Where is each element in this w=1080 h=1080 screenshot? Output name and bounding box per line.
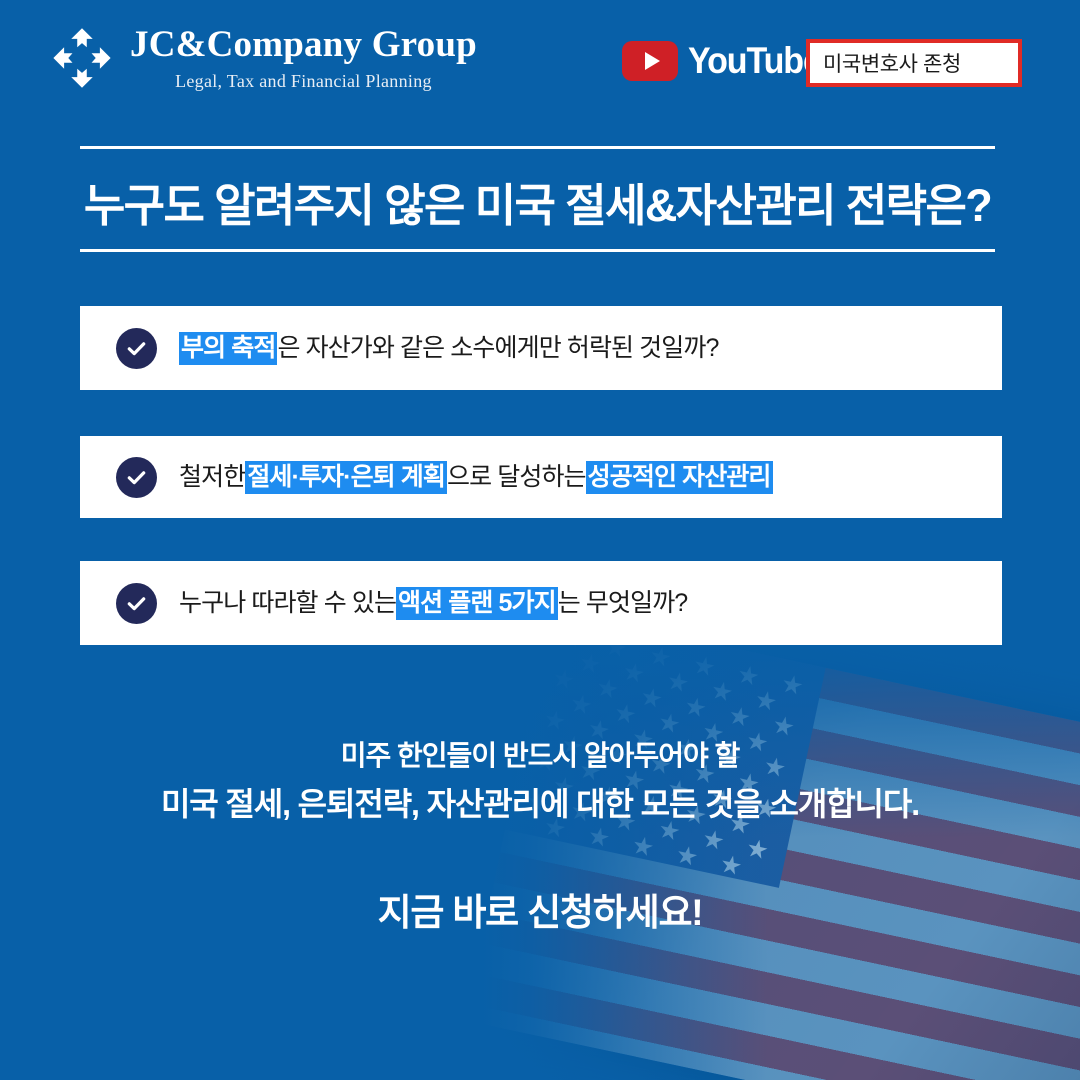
bullet-card: 철저한 절세·투자·은퇴 계획으로 달성하는 성공적인 자산관리 [80,436,1002,518]
check-circle-icon [116,328,157,369]
bullet-card: 부의 축적은 자산가와 같은 소수에게만 허락된 것일까? [80,306,1002,390]
page-title: 누구도 알려주지 않은 미국 절세&자산관리 전략은? [80,162,995,240]
bullet-card: 누구나 따라할 수 있는 액션 플랜 5가지는 무엇일까? [80,561,1002,645]
promo-poster: JC&Company Group Legal, Tax and Financia… [0,0,1080,1080]
bullet-text: 부의 축적은 자산가와 같은 소수에게만 허락된 것일까? [179,332,719,365]
brand-tagline: Legal, Tax and Financial Planning [175,72,432,90]
lawyer-badge-label: 미국변호사 존청 [823,48,961,78]
headline-rule-top [80,146,995,149]
brand-lockup: JC&Company Group Legal, Tax and Financia… [52,26,477,90]
four-point-star-logo-icon [52,27,112,89]
bullet-text: 누구나 따라할 수 있는 액션 플랜 5가지는 무엇일까? [179,587,687,620]
check-circle-icon [116,583,157,624]
bullet-highlight: 부의 축적 [179,332,277,365]
footer-cta-text: 지금 바로 신청하세요! [0,882,1080,936]
check-circle-icon [116,457,157,498]
footer-line-2: 미국 절세, 은퇴전략, 자산관리에 대한 모든 것을 소개합니다. [0,783,1080,825]
bullet-text: 철저한 절세·투자·은퇴 계획으로 달성하는 성공적인 자산관리 [179,461,773,494]
poster-header: JC&Company Group Legal, Tax and Financia… [0,0,1080,124]
footer-copy: 미주 한인들이 반드시 알아두어야 할 미국 절세, 은퇴전략, 자산관리에 대… [0,738,1080,936]
bullet-plain: 는 무엇일까? [558,587,688,620]
bullet-plain: 은 자산가와 같은 소수에게만 허락된 것일까? [277,332,718,365]
lawyer-badge-button[interactable]: 미국변호사 존청 [806,39,1022,87]
footer-line-1: 미주 한인들이 반드시 알아두어야 할 [0,738,1080,775]
play-triangle-icon [622,41,678,81]
bullet-highlight: 절세·투자·은퇴 계획 [245,461,447,494]
bullet-plain: 누구나 따라할 수 있는 [179,587,396,620]
bullet-plain: 으로 달성하는 [447,461,586,494]
youtube-wordmark: YouTube [688,40,821,82]
brand-name: JC&Company Group [130,26,477,63]
headline-text: 누구도 알려주지 않은 미국 절세&자산관리 전략은? [84,169,991,234]
bullet-plain: 철저한 [179,461,245,494]
headline-rule-bottom [80,249,995,252]
bullet-highlight: 성공적인 자산관리 [586,461,773,494]
youtube-logo[interactable]: YouTube [622,40,832,82]
bullet-highlight: 액션 플랜 5가지 [396,587,558,620]
